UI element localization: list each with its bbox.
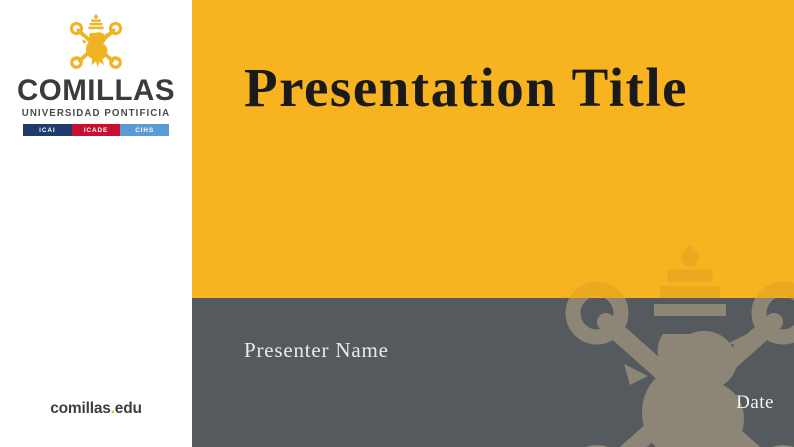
sidebar-panel: COMILLAS UNIVERSIDAD PONTIFICIA ICAI ICA… <box>0 0 192 447</box>
page-title[interactable]: Presentation Title <box>244 58 774 119</box>
date-label[interactable]: Date <box>736 392 774 414</box>
url-name: comillas <box>50 400 110 417</box>
watermark-clip-yellow <box>192 0 794 298</box>
comillas-crest-watermark-icon <box>540 232 794 298</box>
university-logo[interactable]: COMILLAS UNIVERSIDAD PONTIFICIA ICAI ICA… <box>0 14 192 136</box>
presenter-name[interactable]: Presenter Name <box>244 338 389 363</box>
website-url[interactable]: comillas.edu <box>0 400 192 418</box>
comillas-crest-icon <box>64 14 128 72</box>
logo-wordmark: COMILLAS <box>0 76 192 106</box>
school-badge-icade[interactable]: ICADE <box>72 124 121 136</box>
watermark-clip-gray <box>192 298 794 447</box>
logo-subtitle: UNIVERSIDAD PONTIFICIA <box>0 109 192 119</box>
comillas-crest-watermark-icon <box>540 298 794 447</box>
school-badge-cihs[interactable]: CIHS <box>120 124 169 136</box>
school-badge-icai[interactable]: ICAI <box>23 124 72 136</box>
url-tld: edu <box>115 400 142 417</box>
title-slide: COMILLAS UNIVERSIDAD PONTIFICIA ICAI ICA… <box>0 0 794 447</box>
school-badge-bar: ICAI ICADE CIHS <box>23 124 169 136</box>
content-area: Presentation Title Presenter Name Date <box>192 0 794 447</box>
